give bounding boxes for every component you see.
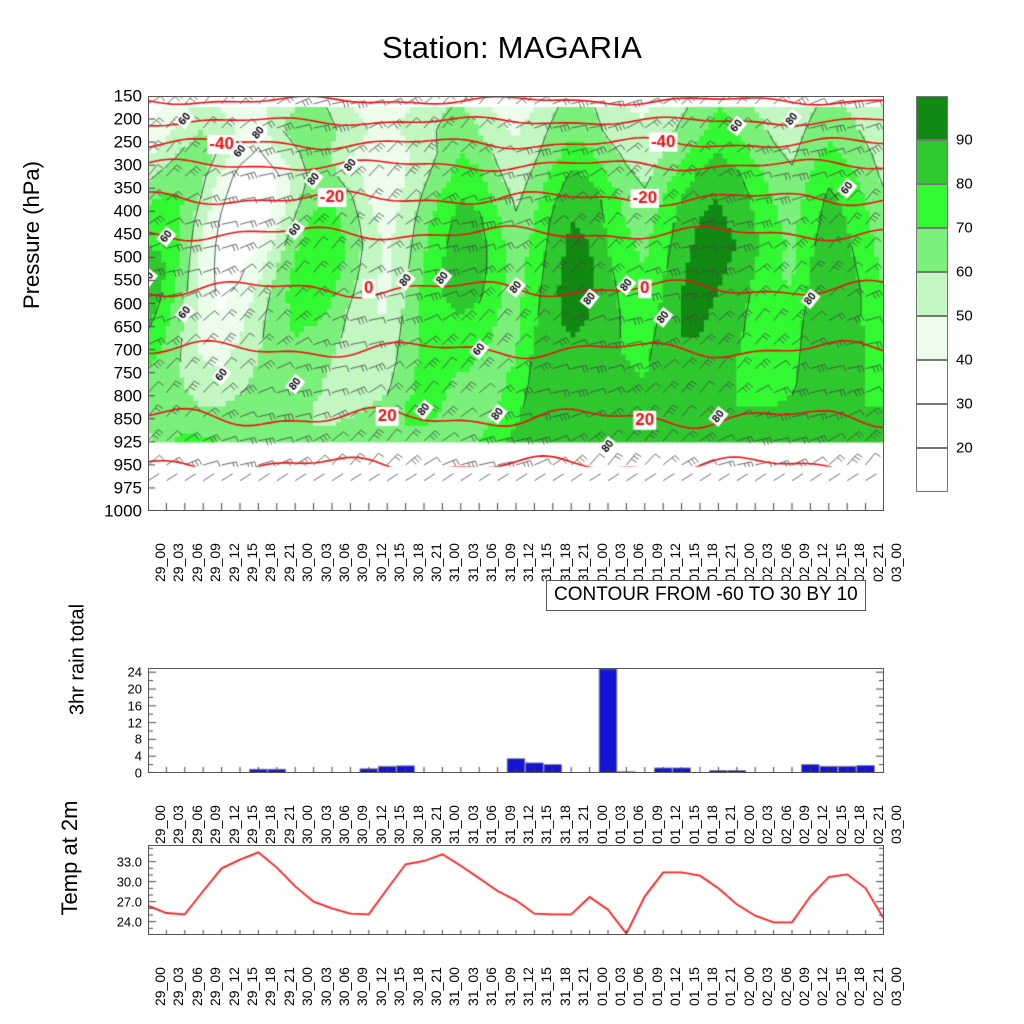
colorbar-cell xyxy=(916,184,948,228)
pressure-tick-label: 150 xyxy=(114,88,142,105)
pressure-axis-title: Pressure (hPa) xyxy=(19,75,45,395)
colorbar-tick-label: 70 xyxy=(956,221,973,236)
time-tick-label: 31_03 xyxy=(466,543,480,582)
pressure-tick-label: 600 xyxy=(114,295,142,312)
time-tick-label: 31_09 xyxy=(503,967,517,1006)
time-tick-label: 31_00 xyxy=(447,805,461,844)
time-tick-label: 31_18 xyxy=(558,805,572,844)
colorbar-cell xyxy=(916,360,948,404)
colorbar-tick-label: 50 xyxy=(956,309,973,324)
rain-tick-label: 24 xyxy=(128,666,142,679)
rain-tick-label: 12 xyxy=(128,716,142,729)
pressure-tick-label: 950 xyxy=(114,456,142,473)
temp-tick-label: 30.0 xyxy=(117,875,142,888)
time-tick-label: 01_18 xyxy=(705,805,719,844)
time-tick-label: 01_21 xyxy=(723,805,737,844)
time-tick-label: 30_06 xyxy=(337,543,351,582)
colorbar-tick-label: 40 xyxy=(956,353,973,368)
time-tick-label: 29_21 xyxy=(282,967,296,1006)
time-tick-label: 02_00 xyxy=(742,967,756,1006)
time-tick-label: 29_12 xyxy=(227,805,241,844)
time-tick-label: 31_18 xyxy=(558,967,572,1006)
time-tick-label: 29_03 xyxy=(171,967,185,1006)
time-tick-label: 30_06 xyxy=(337,805,351,844)
time-tick-label: 30_12 xyxy=(374,967,388,1006)
time-tick-label: 31_03 xyxy=(466,967,480,1006)
time-tick-label: 29_03 xyxy=(171,543,185,582)
colorbar-cell xyxy=(916,140,948,184)
time-tick-label: 02_18 xyxy=(852,967,866,1006)
temp-time-axis-labels: 29_0029_0329_0629_0929_1229_1529_1829_21… xyxy=(148,940,884,1010)
time-tick-label: 02_15 xyxy=(834,805,848,844)
time-tick-label: 01_18 xyxy=(705,967,719,1006)
colorbar-tick-label: 30 xyxy=(956,397,973,412)
colorbar xyxy=(916,96,948,492)
time-tick-label: 02_12 xyxy=(815,805,829,844)
time-tick-label: 02_09 xyxy=(797,805,811,844)
time-tick-label: 30_06 xyxy=(337,967,351,1006)
rain-tick-label: 8 xyxy=(135,733,142,746)
time-tick-label: 31_00 xyxy=(447,967,461,1006)
time-tick-label: 30_15 xyxy=(392,543,406,582)
temp-tick-label: 24.0 xyxy=(117,915,142,928)
rain-tick-label: 20 xyxy=(128,683,142,696)
time-tick-label: 01_21 xyxy=(723,543,737,582)
time-tick-label: 31_06 xyxy=(484,543,498,582)
time-tick-label: 29_12 xyxy=(227,967,241,1006)
temp-panel xyxy=(148,845,884,935)
colorbar-cell xyxy=(916,448,948,492)
time-tick-label: 30_12 xyxy=(374,543,388,582)
time-tick-label: 30_00 xyxy=(300,967,314,1006)
pressure-axis-labels: 1502002503003504004505005506006507007508… xyxy=(60,96,142,511)
time-tick-label: 31_21 xyxy=(576,805,590,844)
rain-time-axis-labels: 29_0029_0329_0629_0929_1229_1529_1829_21… xyxy=(148,778,884,848)
rain-canvas xyxy=(148,668,884,773)
time-tick-label: 30_21 xyxy=(429,805,443,844)
colorbar-cell xyxy=(916,96,948,140)
time-tick-label: 02_12 xyxy=(815,543,829,582)
time-tick-label: 29_18 xyxy=(263,543,277,582)
page-title: Station: MAGARIA xyxy=(0,30,1024,66)
pressure-tick-label: 750 xyxy=(114,364,142,381)
time-tick-label: 01_09 xyxy=(650,805,664,844)
time-tick-label: 02_21 xyxy=(871,805,885,844)
time-tick-label: 01_09 xyxy=(650,543,664,582)
time-tick-label: 02_18 xyxy=(852,543,866,582)
time-tick-label: 30_09 xyxy=(355,805,369,844)
colorbar-cell xyxy=(916,228,948,272)
time-tick-label: 03_00 xyxy=(889,543,903,582)
time-tick-label: 02_06 xyxy=(779,543,793,582)
colorbar-tick-label: 80 xyxy=(956,177,973,192)
temp-tick-label: 27.0 xyxy=(117,895,142,908)
rain-tick-label: 0 xyxy=(135,767,142,780)
time-tick-label: 01_15 xyxy=(687,805,701,844)
time-tick-label: 29_21 xyxy=(282,543,296,582)
time-tick-label: 31_15 xyxy=(539,805,553,844)
pressure-tick-label: 650 xyxy=(114,318,142,335)
pressure-tick-label: 975 xyxy=(114,479,142,496)
time-tick-label: 29_03 xyxy=(171,805,185,844)
pressure-tick-label: 300 xyxy=(114,157,142,174)
pressure-tick-label: 500 xyxy=(114,249,142,266)
time-tick-label: 30_03 xyxy=(319,967,333,1006)
time-tick-label: 01_18 xyxy=(705,543,719,582)
time-tick-label: 01_15 xyxy=(687,543,701,582)
rain-panel xyxy=(148,668,884,773)
time-tick-label: 29_09 xyxy=(208,805,222,844)
pressure-tick-label: 850 xyxy=(114,410,142,427)
time-tick-label: 02_06 xyxy=(779,805,793,844)
time-tick-label: 29_06 xyxy=(190,543,204,582)
time-tick-label: 30_00 xyxy=(300,543,314,582)
time-tick-label: 30_18 xyxy=(411,543,425,582)
time-tick-label: 03_00 xyxy=(889,805,903,844)
time-tick-label: 29_12 xyxy=(227,543,241,582)
temp-tick-label: 33.0 xyxy=(117,855,142,868)
time-tick-label: 30_09 xyxy=(355,543,369,582)
time-tick-label: 31_18 xyxy=(558,543,572,582)
time-tick-label: 02_09 xyxy=(797,967,811,1006)
time-tick-label: 29_18 xyxy=(263,967,277,1006)
time-tick-label: 02_09 xyxy=(797,543,811,582)
time-tick-label: 31_09 xyxy=(503,805,517,844)
time-tick-label: 31_00 xyxy=(447,543,461,582)
time-tick-label: 02_21 xyxy=(871,967,885,1006)
time-tick-label: 29_06 xyxy=(190,967,204,1006)
time-tick-label: 02_00 xyxy=(742,805,756,844)
time-tick-label: 29_21 xyxy=(282,805,296,844)
time-tick-label: 30_03 xyxy=(319,805,333,844)
temp-axis-title: Temp at 2m xyxy=(57,758,83,958)
time-tick-label: 30_21 xyxy=(429,967,443,1006)
time-tick-label: 31_03 xyxy=(466,805,480,844)
time-tick-label: 30_03 xyxy=(319,543,333,582)
pressure-tick-label: 925 xyxy=(114,433,142,450)
time-tick-label: 01_15 xyxy=(687,967,701,1006)
rain-axis-labels: 04812162024 xyxy=(96,668,142,773)
time-tick-label: 31_15 xyxy=(539,543,553,582)
time-tick-label: 31_06 xyxy=(484,967,498,1006)
time-tick-label: 01_06 xyxy=(631,543,645,582)
time-tick-label: 02_03 xyxy=(760,805,774,844)
time-tick-label: 02_00 xyxy=(742,543,756,582)
time-tick-label: 02_03 xyxy=(760,967,774,1006)
time-tick-label: 30_18 xyxy=(411,805,425,844)
pressure-tick-label: 550 xyxy=(114,272,142,289)
time-tick-label: 29_06 xyxy=(190,805,204,844)
time-tick-label: 01_00 xyxy=(595,967,609,1006)
colorbar-cell xyxy=(916,404,948,448)
pressure-tick-label: 450 xyxy=(114,226,142,243)
rain-tick-label: 4 xyxy=(135,750,142,763)
colorbar-tick-label: 60 xyxy=(956,265,973,280)
time-tick-label: 30_18 xyxy=(411,967,425,1006)
time-tick-label: 31_15 xyxy=(539,967,553,1006)
colorbar-labels: 9080706050403020 xyxy=(956,96,1006,492)
time-tick-label: 01_00 xyxy=(595,543,609,582)
rain-tick-label: 16 xyxy=(128,699,142,712)
time-tick-label: 02_12 xyxy=(815,967,829,1006)
contour-time-axis-labels: 29_0029_0329_0629_0929_1229_1529_1829_21… xyxy=(148,516,884,586)
time-tick-label: 31_12 xyxy=(521,967,535,1006)
contour-canvas xyxy=(148,96,884,511)
pressure-tick-label: 800 xyxy=(114,387,142,404)
time-tick-label: 01_12 xyxy=(668,805,682,844)
colorbar-cell xyxy=(916,272,948,316)
time-tick-label: 29_09 xyxy=(208,967,222,1006)
time-tick-label: 01_12 xyxy=(668,967,682,1006)
time-tick-label: 29_15 xyxy=(245,543,259,582)
colorbar-tick-label: 90 xyxy=(956,133,973,148)
colorbar-cell xyxy=(916,316,948,360)
time-tick-label: 29_00 xyxy=(153,967,167,1006)
time-tick-label: 31_12 xyxy=(521,805,535,844)
time-tick-label: 01_03 xyxy=(613,543,627,582)
time-tick-label: 29_15 xyxy=(245,967,259,1006)
time-tick-label: 02_15 xyxy=(834,543,848,582)
time-tick-label: 31_12 xyxy=(521,543,535,582)
pressure-tick-label: 250 xyxy=(114,134,142,151)
temp-axis-labels: 24.027.030.033.0 xyxy=(88,845,142,935)
time-tick-label: 02_06 xyxy=(779,967,793,1006)
time-tick-label: 02_03 xyxy=(760,543,774,582)
time-tick-label: 29_15 xyxy=(245,805,259,844)
contour-note: CONTOUR FROM -60 TO 30 BY 10 xyxy=(546,580,866,611)
time-tick-label: 29_00 xyxy=(153,543,167,582)
pressure-tick-label: 400 xyxy=(114,203,142,220)
contour-panel xyxy=(148,96,884,511)
time-tick-label: 30_12 xyxy=(374,805,388,844)
pressure-tick-label: 350 xyxy=(114,180,142,197)
time-tick-label: 31_21 xyxy=(576,543,590,582)
time-tick-label: 29_18 xyxy=(263,805,277,844)
time-tick-label: 31_21 xyxy=(576,967,590,1006)
time-tick-label: 31_06 xyxy=(484,805,498,844)
time-tick-label: 02_15 xyxy=(834,967,848,1006)
time-tick-label: 01_09 xyxy=(650,967,664,1006)
time-tick-label: 29_00 xyxy=(153,805,167,844)
time-tick-label: 01_00 xyxy=(595,805,609,844)
time-tick-label: 01_03 xyxy=(613,805,627,844)
rain-axis-title: 3hr rain total xyxy=(67,560,90,760)
time-tick-label: 30_21 xyxy=(429,543,443,582)
time-tick-label: 01_12 xyxy=(668,543,682,582)
time-tick-label: 01_06 xyxy=(631,967,645,1006)
pressure-tick-label: 200 xyxy=(114,111,142,128)
time-tick-label: 03_00 xyxy=(889,967,903,1006)
time-tick-label: 30_00 xyxy=(300,805,314,844)
colorbar-tick-label: 20 xyxy=(956,441,973,456)
time-tick-label: 31_09 xyxy=(503,543,517,582)
time-tick-label: 01_03 xyxy=(613,967,627,1006)
time-tick-label: 29_09 xyxy=(208,543,222,582)
time-tick-label: 01_21 xyxy=(723,967,737,1006)
time-tick-label: 30_15 xyxy=(392,967,406,1006)
time-tick-label: 02_21 xyxy=(871,543,885,582)
time-tick-label: 30_15 xyxy=(392,805,406,844)
pressure-tick-label: 700 xyxy=(114,341,142,358)
time-tick-label: 01_06 xyxy=(631,805,645,844)
pressure-tick-label: 1000 xyxy=(104,503,142,520)
temp-canvas xyxy=(148,845,884,935)
time-tick-label: 02_18 xyxy=(852,805,866,844)
time-tick-label: 30_09 xyxy=(355,967,369,1006)
